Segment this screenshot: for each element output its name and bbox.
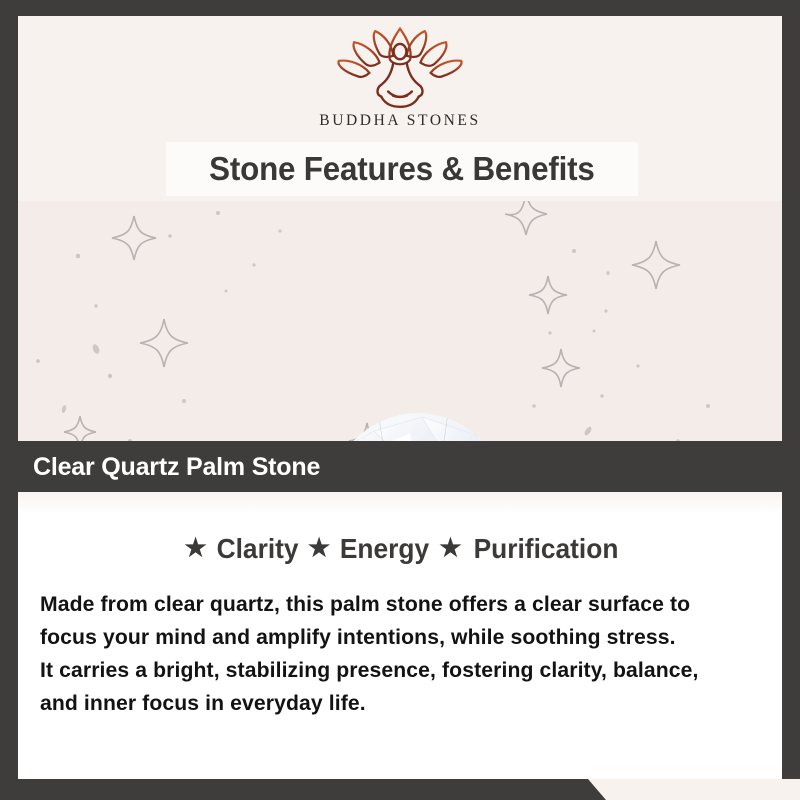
- star-icon: ★: [308, 536, 330, 561]
- keyword-energy: Energy: [340, 533, 429, 565]
- product-name: Clear Quartz Palm Stone: [33, 453, 320, 482]
- description-text: Made from clear quartz, this palm stone …: [40, 588, 764, 720]
- benefit-keywords: ★ Clarity ★ Energy ★ Purification: [18, 533, 782, 565]
- bottom-frame-bar: [0, 779, 800, 800]
- section-title-banner: Stone Features & Benefits: [166, 142, 638, 196]
- brand-logo: BUDDHA STONES: [0, 22, 800, 130]
- description-line: Made from clear quartz, this palm stone …: [40, 588, 753, 621]
- keyword-clarity: Clarity: [216, 533, 298, 565]
- description-line: and inner focus in everyday life.: [40, 687, 753, 720]
- keyword-purification: Purification: [473, 533, 618, 565]
- top-frame-bar: [0, 0, 800, 16]
- description-line: focus your mind and amplify intentions, …: [40, 621, 753, 654]
- bottom-frame-dark: [0, 779, 800, 800]
- product-name-ribbon: Clear Quartz Palm Stone: [0, 442, 420, 492]
- brand-name: BUDDHA STONES: [319, 112, 480, 130]
- product-stone-image: [318, 413, 518, 441]
- poster-root: BUDDHA STONES Stone Features & Benefits …: [0, 0, 800, 800]
- product-image-panel: [18, 201, 782, 441]
- star-icon: ★: [184, 536, 206, 561]
- star-icon: ★: [439, 536, 461, 561]
- page-title: Stone Features & Benefits: [209, 150, 594, 188]
- lotus-meditation-icon: [332, 22, 468, 110]
- description-line: It carries a bright, stabilizing presenc…: [40, 654, 753, 687]
- sparkle-decoration-icon: [18, 201, 782, 441]
